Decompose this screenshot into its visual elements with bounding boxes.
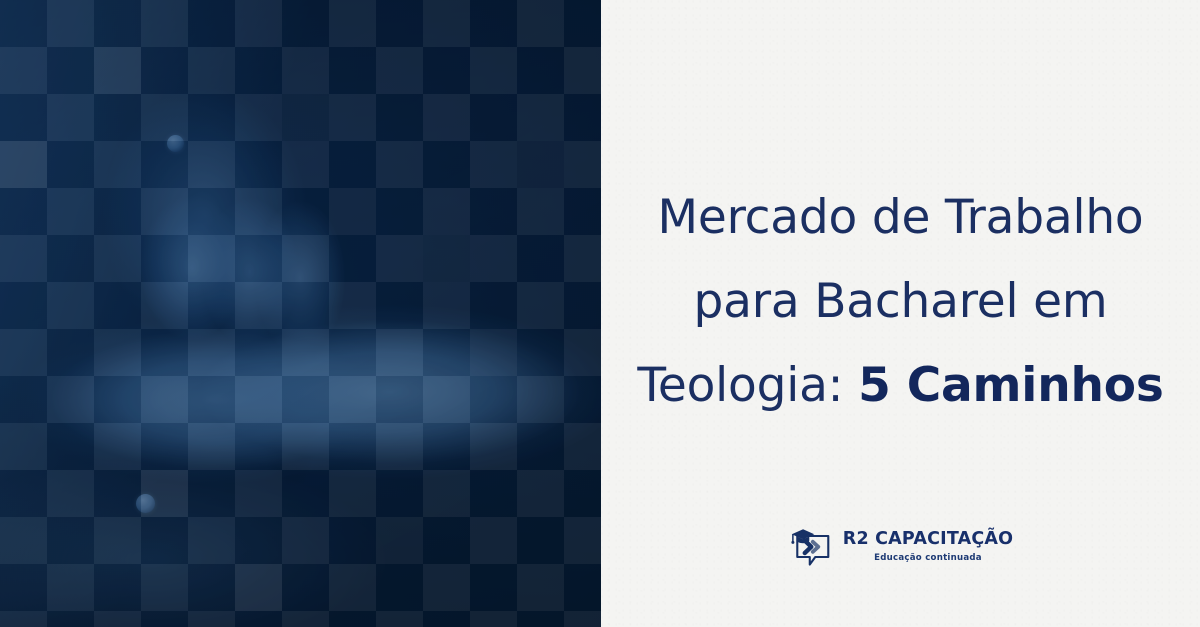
headline-line-3: Teologia: 5 Caminhos (628, 344, 1173, 428)
text-panel: Mercado de Trabalho para Bacharel em Teo… (601, 0, 1200, 627)
graduation-cap-speech-bubble-icon (788, 524, 834, 570)
mosaic-tile (47, 423, 94, 470)
brand-logo: R2 CAPACITAÇÃO Educação continuada (788, 524, 1013, 570)
mosaic-tile (235, 564, 282, 611)
brand-name: R2 CAPACITAÇÃO (843, 531, 1013, 549)
mosaic-tile (282, 94, 329, 141)
mosaic-tile (94, 47, 141, 94)
mosaic-tile (141, 470, 188, 517)
page-title: Mercado de Trabalho para Bacharel em Teo… (628, 176, 1173, 428)
headline-line-3-accent: 5 Caminhos (858, 358, 1164, 413)
mosaic-tile (517, 141, 564, 188)
mosaic-tile (470, 329, 517, 376)
brand-tagline: Educação continuada (874, 554, 982, 563)
photo-panel (0, 0, 601, 627)
mosaic-tile (188, 0, 235, 47)
headline-line-3-regular: Teologia: (637, 358, 858, 413)
headline-line-2: para Bacharel em (628, 260, 1173, 344)
mosaic-tile (0, 141, 47, 188)
mosaic-tile (329, 188, 376, 235)
headline-line-1: Mercado de Trabalho (628, 176, 1173, 260)
promo-banner: Mercado de Trabalho para Bacharel em Teo… (0, 0, 1200, 627)
brand-logo-text: R2 CAPACITAÇÃO Educação continuada (843, 531, 1013, 562)
mosaic-tile (376, 517, 423, 564)
mosaic-tile (423, 235, 470, 282)
